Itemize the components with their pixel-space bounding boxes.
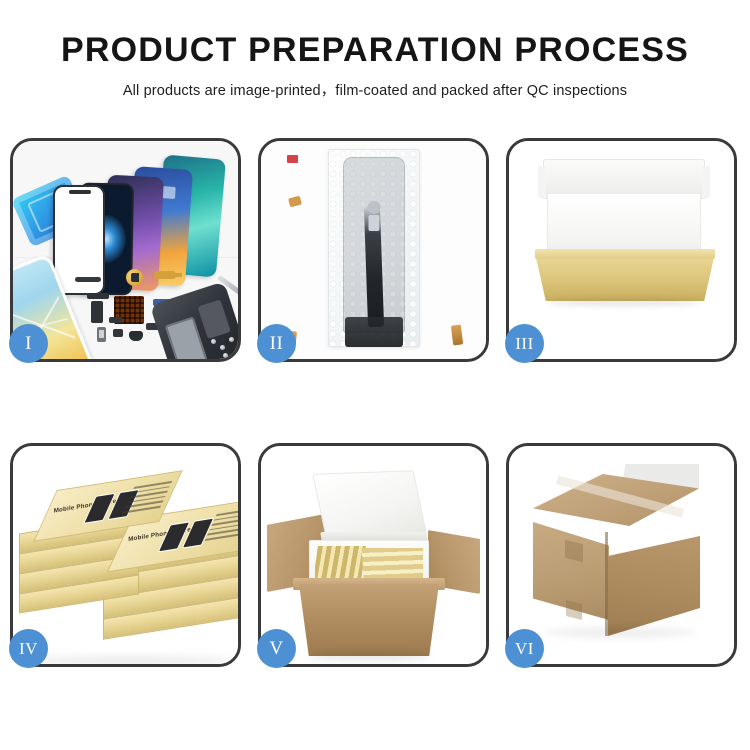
part-vibration-motor bbox=[126, 269, 143, 286]
drop-shadow bbox=[545, 628, 695, 637]
step-badge-4: IV bbox=[9, 629, 48, 668]
drop-shadow bbox=[307, 652, 431, 660]
panel-image-carton-with-boxes bbox=[261, 446, 486, 664]
connector-round bbox=[367, 201, 380, 214]
panel-image-bubble-wrapped-screen bbox=[261, 141, 486, 359]
process-step-grid: I II III bbox=[10, 138, 740, 667]
drop-shadow bbox=[549, 299, 701, 306]
carton-corner-seam bbox=[605, 532, 608, 636]
part-earpiece-strip bbox=[75, 277, 101, 282]
part-taptic-engine bbox=[97, 327, 106, 342]
step-badge-5: V bbox=[257, 629, 296, 668]
step-badge-1: I bbox=[9, 324, 48, 363]
step-badge-6: VI bbox=[505, 629, 544, 668]
page-header: PRODUCT PREPARATION PROCESS All products… bbox=[0, 0, 750, 100]
box-stack-group: Mobile Phone Spare Parts Mobile Phone Sp… bbox=[15, 468, 238, 658]
panel-products-overview[interactable]: I bbox=[10, 138, 241, 362]
part-connector-strip bbox=[87, 293, 109, 299]
page-title: PRODUCT PREPARATION PROCESS bbox=[0, 30, 750, 70]
panel-image-products-overview bbox=[13, 141, 238, 359]
part-loudspeaker bbox=[129, 331, 143, 341]
box-spec-lines bbox=[121, 481, 172, 517]
screen-bottom-board bbox=[345, 317, 403, 347]
panel-foam-lined-inner-box[interactable]: III bbox=[506, 138, 737, 362]
part-flex-cable-dark bbox=[91, 301, 103, 323]
part-screws-group bbox=[211, 337, 238, 359]
carton-front-panel bbox=[299, 584, 439, 656]
kraft-box-rim bbox=[535, 249, 715, 259]
panel-image-foam-lined-inner-box bbox=[509, 141, 734, 359]
part-sim-tray bbox=[109, 317, 122, 323]
panel-carton-with-boxes[interactable]: V bbox=[258, 443, 489, 667]
drop-shadow bbox=[23, 656, 233, 664]
part-flex-cable-gold bbox=[154, 271, 176, 279]
red-qc-sticker bbox=[287, 155, 298, 163]
panel-stacked-retail-boxes[interactable]: Mobile Phone Spare Parts Mobile Phone Sp… bbox=[10, 443, 241, 667]
panel-image-stacked-retail-boxes: Mobile Phone Spare Parts Mobile Phone Sp… bbox=[13, 446, 238, 664]
step-badge-3: III bbox=[505, 324, 544, 363]
page-subtitle: All products are image-printed，film-coat… bbox=[0, 79, 750, 100]
panel-sealed-shipping-carton[interactable]: VI bbox=[506, 443, 737, 667]
kraft-box-tray bbox=[535, 253, 715, 301]
part-small-bracket bbox=[113, 329, 123, 337]
connector-square bbox=[368, 215, 379, 231]
panel-bubble-wrapped-screen[interactable]: II bbox=[258, 138, 489, 362]
panel-image-sealed-shipping-carton bbox=[509, 446, 734, 664]
step-badge-2: II bbox=[257, 324, 296, 363]
